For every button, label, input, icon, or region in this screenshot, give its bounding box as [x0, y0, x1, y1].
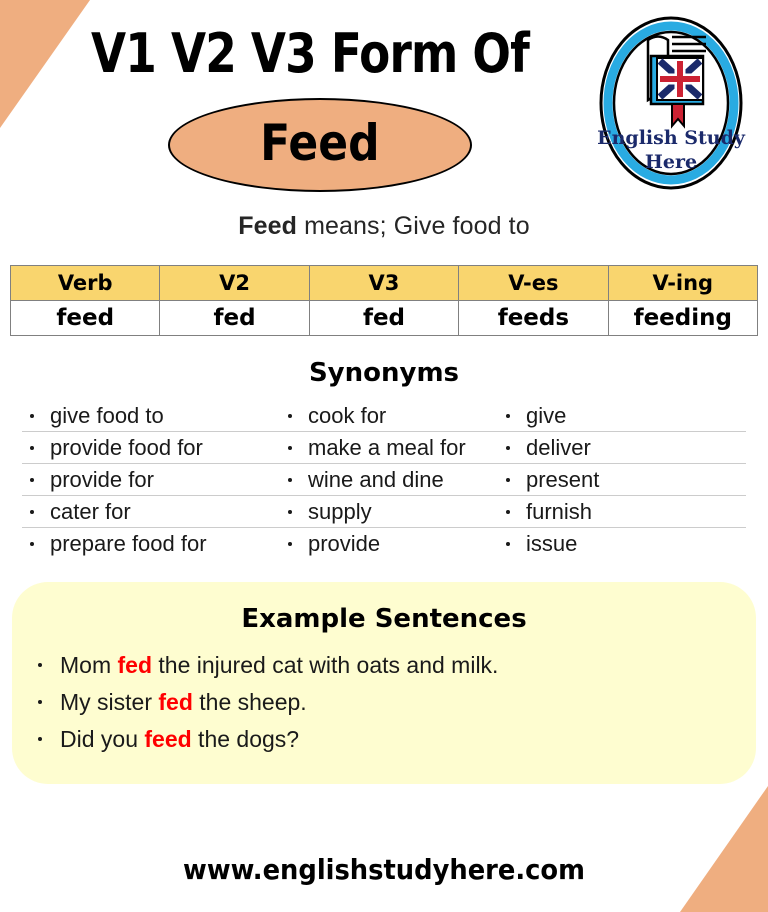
list-item: cater for supply furnish — [22, 496, 746, 528]
bullet-icon — [30, 542, 34, 546]
bullet-icon — [38, 663, 42, 667]
synonym-label: cook for — [308, 403, 386, 429]
logo-line-1: English Study — [597, 127, 746, 149]
meaning-line: Feed means; Give food to — [0, 212, 768, 241]
synonym-cell: give — [498, 403, 746, 429]
synonym-cell: give food to — [22, 403, 280, 429]
verb-forms-table: Verb V2 V3 V-es V-ing feed fed fed feeds… — [10, 265, 758, 336]
bullet-icon — [506, 446, 510, 450]
bullet-icon — [506, 542, 510, 546]
bullet-icon — [506, 414, 510, 418]
list-item: Mom fed the injured cat with oats and mi… — [30, 652, 756, 689]
synonym-label: prepare food for — [50, 531, 207, 557]
example-sentences-box: Example Sentences Mom fed the injured ca… — [12, 582, 756, 784]
header: V1 V2 V3 Form Of Feed — [0, 0, 768, 200]
bullet-icon — [288, 478, 292, 482]
bullet-icon — [30, 510, 34, 514]
table-cell: feeding — [608, 301, 757, 336]
list-item: provide food for make a meal for deliver — [22, 432, 746, 464]
bullet-icon — [30, 414, 34, 418]
synonym-label: supply — [308, 499, 372, 525]
bullet-icon — [288, 542, 292, 546]
synonym-label: provide — [308, 531, 380, 557]
highlighted-verb: fed — [158, 689, 193, 715]
bullet-icon — [30, 446, 34, 450]
logo-line-2: Here — [645, 151, 697, 173]
synonym-label: give — [526, 403, 566, 429]
footer-url: www.englishstudyhere.com — [31, 853, 738, 886]
synonym-cell: supply — [280, 499, 498, 525]
bullet-icon — [288, 414, 292, 418]
meaning-rest: means; Give food to — [297, 212, 530, 240]
highlighted-verb: fed — [118, 652, 153, 678]
synonym-label: provide for — [50, 467, 154, 493]
example-sentence: Mom fed the injured cat with oats and mi… — [60, 652, 498, 679]
table-cell: feeds — [459, 301, 608, 336]
list-item: Did you feed the dogs? — [30, 726, 756, 763]
synonym-label: issue — [526, 531, 577, 557]
bullet-icon — [38, 700, 42, 704]
synonym-label: make a meal for — [308, 435, 466, 461]
synonym-cell: deliver — [498, 435, 746, 461]
synonym-cell: furnish — [498, 499, 746, 525]
highlighted-verb: feed — [144, 726, 191, 752]
bullet-icon — [288, 446, 292, 450]
table-header-cell: V2 — [160, 266, 309, 301]
example-sentences-list: Mom fed the injured cat with oats and mi… — [12, 652, 756, 763]
bullet-icon — [288, 510, 292, 514]
verb-forms-section: Verb V2 V3 V-es V-ing feed fed fed feeds… — [0, 265, 768, 336]
synonym-label: cater for — [50, 499, 131, 525]
logo-badge-icon: English Study Here — [596, 14, 746, 192]
headword: Feed — [260, 118, 379, 172]
synonyms-grid: give food to cook for give provide food … — [0, 400, 768, 560]
list-item: give food to cook for give — [22, 400, 746, 432]
synonym-cell: cook for — [280, 403, 498, 429]
example-sentence: Did you feed the dogs? — [60, 726, 299, 753]
page-title: V1 V2 V3 Form Of — [50, 22, 571, 85]
list-item: prepare food for provide issue — [22, 528, 746, 560]
example-sentences-title: Example Sentences — [12, 604, 756, 634]
synonym-cell: provide for — [22, 467, 280, 493]
synonym-cell: make a meal for — [280, 435, 498, 461]
table-row: feed fed fed feeds feeding — [11, 301, 758, 336]
synonym-cell: provide food for — [22, 435, 280, 461]
synonym-cell: provide — [280, 531, 498, 557]
example-sentence: My sister fed the sheep. — [60, 689, 307, 716]
synonym-cell: issue — [498, 531, 746, 557]
table-header-cell: V-es — [459, 266, 608, 301]
headword-ellipse: Feed — [168, 98, 472, 192]
bullet-icon — [506, 510, 510, 514]
synonym-cell: wine and dine — [280, 467, 498, 493]
bullet-icon — [38, 737, 42, 741]
synonyms-title: Synonyms — [0, 358, 768, 388]
uk-flag-icon — [660, 61, 700, 97]
table-header-row: Verb V2 V3 V-es V-ing — [11, 266, 758, 301]
synonym-cell: prepare food for — [22, 531, 280, 557]
synonym-cell: present — [498, 467, 746, 493]
table-cell: fed — [160, 301, 309, 336]
table-cell: fed — [309, 301, 458, 336]
table-header-cell: V3 — [309, 266, 458, 301]
corner-decoration-bottom-right — [680, 786, 768, 912]
bullet-icon — [506, 478, 510, 482]
synonym-label: provide food for — [50, 435, 203, 461]
list-item: provide for wine and dine present — [22, 464, 746, 496]
synonym-label: deliver — [526, 435, 591, 461]
site-logo: English Study Here — [596, 14, 746, 192]
synonym-label: give food to — [50, 403, 164, 429]
synonym-label: present — [526, 467, 599, 493]
synonym-label: furnish — [526, 499, 592, 525]
list-item: My sister fed the sheep. — [30, 689, 756, 726]
meaning-word: Feed — [238, 212, 297, 240]
bullet-icon — [30, 478, 34, 482]
table-header-cell: Verb — [11, 266, 160, 301]
synonym-label: wine and dine — [308, 467, 444, 493]
table-cell: feed — [11, 301, 160, 336]
table-header-cell: V-ing — [608, 266, 757, 301]
synonym-cell: cater for — [22, 499, 280, 525]
